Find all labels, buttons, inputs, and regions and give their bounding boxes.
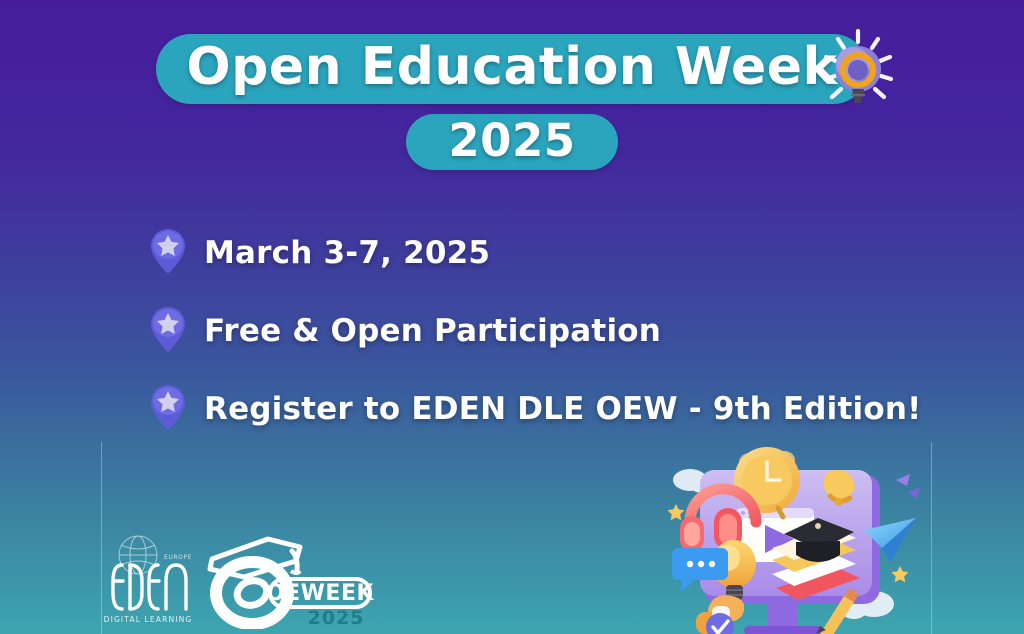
star-pin-icon: [146, 305, 190, 353]
oeweek-year: 2025: [308, 607, 365, 629]
list-item: March 3-7, 2025: [146, 214, 926, 292]
oeweek-wordmark: OEWEEK: [266, 581, 374, 606]
eden-tagline: DIGITAL LEARNING: [104, 615, 192, 624]
star-pin-icon: [146, 227, 190, 275]
list-item: Register to EDEN DLE OEW - 9th Edition!: [146, 370, 926, 448]
list-item-label: March 3-7, 2025: [204, 235, 490, 271]
list-item-label: Register to EDEN DLE OEW - 9th Edition!: [204, 391, 921, 427]
list-item: Free & Open Participation: [146, 292, 926, 370]
star-pin-icon: [146, 383, 190, 431]
online-learning-illustration: [668, 438, 933, 634]
poster-canvas: Open Education Week 2025: [0, 0, 1024, 634]
header: Open Education Week 2025: [0, 34, 1024, 170]
list-item-label: Free & Open Participation: [204, 313, 661, 349]
oeweek-logo: OEWEEK 2025: [196, 531, 374, 629]
eden-superscript: EUROPE: [164, 554, 192, 561]
page-title-year: 2025: [406, 114, 617, 170]
divider-left: [101, 442, 102, 634]
confetti-icon: [896, 474, 920, 499]
page-title: Open Education Week: [156, 34, 867, 104]
eden-wordmark: EDEN: [104, 533, 149, 537]
bullet-list: March 3-7, 2025 Free & Open Participatio…: [146, 214, 926, 448]
eden-logo: EUROPE DIGITAL LEARNING EDEN: [104, 533, 194, 625]
